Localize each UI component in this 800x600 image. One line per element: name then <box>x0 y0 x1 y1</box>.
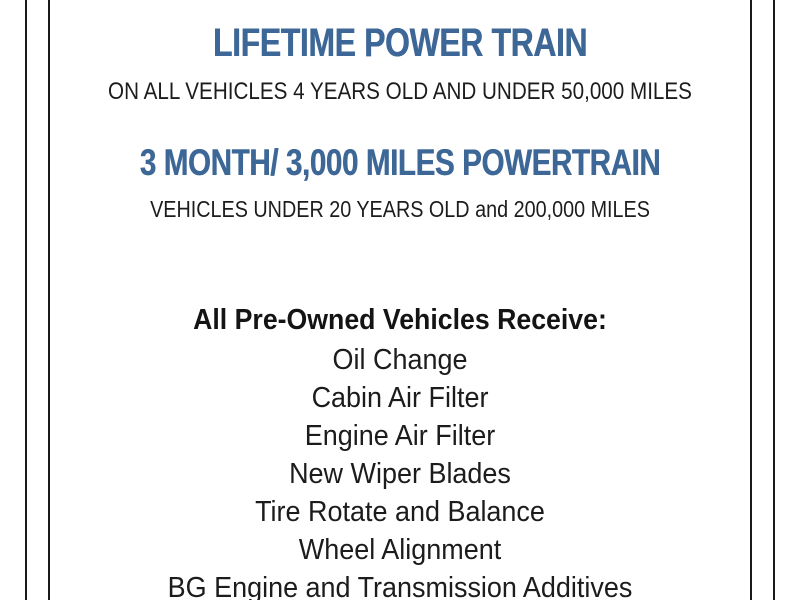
warranty-subtitle-lifetime: ON ALL VEHICLES 4 YEARS OLD AND UNDER 50… <box>99 78 701 106</box>
list-item: Cabin Air Filter <box>75 379 726 417</box>
services-list: Oil Change Cabin Air Filter Engine Air F… <box>50 341 750 600</box>
services-heading: All Pre-Owned Vehicles Receive: <box>78 303 722 337</box>
warranty-block-lifetime: LIFETIME POWER TRAIN ON ALL VEHICLES 4 Y… <box>50 21 750 106</box>
warranty-block-threemonth: 3 MONTH/ 3,000 MILES POWERTRAIN VEHICLES… <box>50 143 750 223</box>
flyer-content: LIFETIME POWER TRAIN ON ALL VEHICLES 4 Y… <box>50 0 750 600</box>
list-item: Tire Rotate and Balance <box>75 493 726 531</box>
border-rule-left-outer <box>25 0 27 600</box>
border-rule-right-inner <box>750 0 752 600</box>
warranty-subtitle-threemonth: VEHICLES UNDER 20 YEARS OLD and 200,000 … <box>99 195 701 223</box>
list-item: Wheel Alignment <box>75 531 726 569</box>
warranty-title-threemonth: 3 MONTH/ 3,000 MILES POWERTRAIN <box>120 143 680 183</box>
list-item: BG Engine and Transmission Additives <box>75 569 726 600</box>
list-item: New Wiper Blades <box>75 455 726 493</box>
border-rule-right-outer <box>773 0 775 600</box>
list-item: Oil Change <box>75 341 726 379</box>
warranty-title-lifetime: LIFETIME POWER TRAIN <box>120 21 680 65</box>
services-section: All Pre-Owned Vehicles Receive: Oil Chan… <box>50 303 750 600</box>
list-item: Engine Air Filter <box>75 417 726 455</box>
flyer-page: LIFETIME POWER TRAIN ON ALL VEHICLES 4 Y… <box>0 0 800 600</box>
